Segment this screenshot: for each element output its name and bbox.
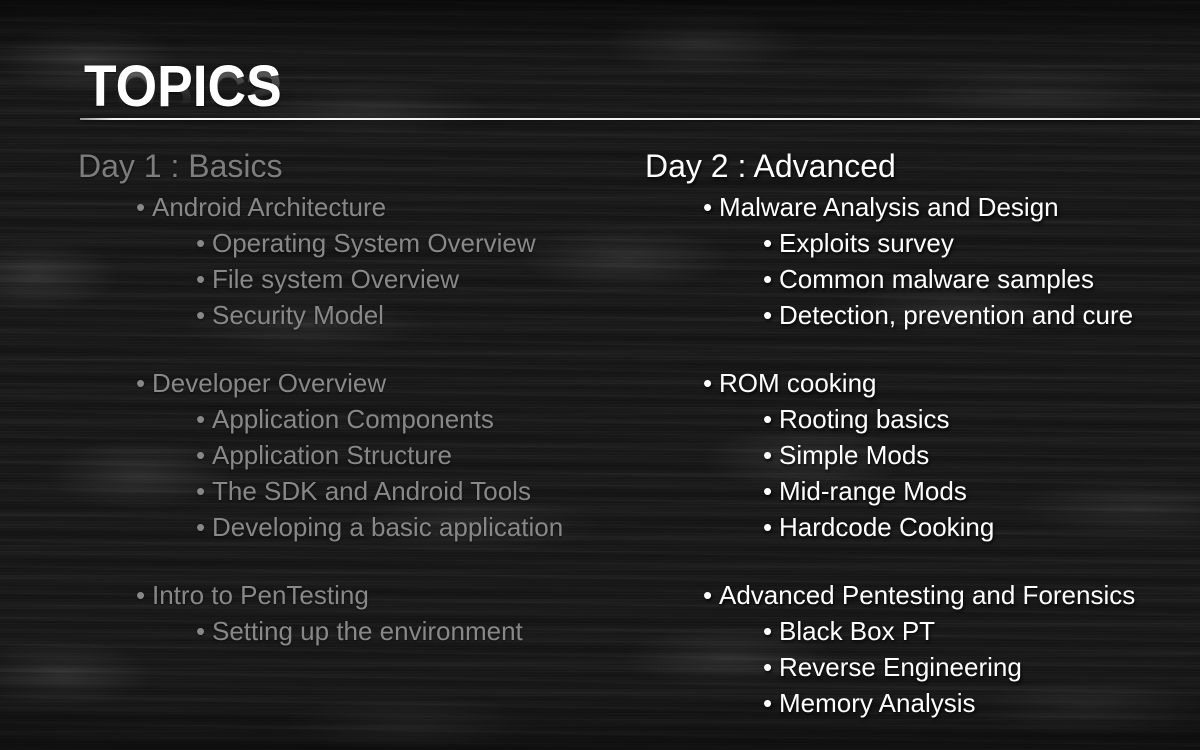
topic-list-item-label: Operating System Overview (212, 225, 536, 261)
bullet-dot-icon: • (136, 577, 152, 613)
bullet-dot-icon: • (763, 297, 779, 333)
topic-list-item: •Exploits survey (645, 225, 1200, 261)
topic-list-item-label: Advanced Pentesting and Forensics (719, 577, 1135, 613)
group-spacer (645, 333, 1200, 365)
topic-list-item: •Android Architecture (78, 189, 638, 225)
bullet-dot-icon: • (763, 261, 779, 297)
topic-list-item-label: Reverse Engineering (779, 649, 1022, 685)
topic-list-item: •Developing a basic application (78, 509, 638, 545)
bullet-dot-icon: • (196, 401, 212, 437)
bullet-dot-icon: • (196, 297, 212, 333)
bullet-dot-icon: • (703, 365, 719, 401)
topic-list-item: •Mid-range Mods (645, 473, 1200, 509)
topic-list-item-label: File system Overview (212, 261, 459, 297)
column-day-2-groups: •Malware Analysis and Design•Exploits su… (645, 189, 1200, 721)
topic-list-item: •Intro to PenTesting (78, 577, 638, 613)
bullet-dot-icon: • (763, 685, 779, 721)
topic-list-item-label: Developer Overview (152, 365, 386, 401)
topic-list-item: •Reverse Engineering (645, 649, 1200, 685)
bullet-dot-icon: • (196, 509, 212, 545)
topic-list-item: •Security Model (78, 297, 638, 333)
column-day-1: Day 1 : Basics •Android Architecture•Ope… (78, 146, 638, 649)
topic-list-item-label: ROM cooking (719, 365, 877, 401)
bullet-dot-icon: • (763, 649, 779, 685)
topic-group: •Developer Overview•Application Componen… (78, 365, 638, 545)
topic-list-item-label: Developing a basic application (212, 509, 563, 545)
title-divider-rule (80, 118, 1200, 120)
slide-content: TOPICS TOPICS Day 1 : Basics •Android Ar… (0, 0, 1200, 750)
group-spacer (78, 333, 638, 365)
topic-list-item-label: Hardcode Cooking (779, 509, 994, 545)
bullet-dot-icon: • (763, 473, 779, 509)
bullet-dot-icon: • (703, 189, 719, 225)
bullet-dot-icon: • (196, 613, 212, 649)
group-spacer (78, 545, 638, 577)
topic-group: •ROM cooking•Rooting basics•Simple Mods•… (645, 365, 1200, 545)
topic-list-item: •Rooting basics (645, 401, 1200, 437)
bullet-dot-icon: • (136, 189, 152, 225)
topic-list-item: •Memory Analysis (645, 685, 1200, 721)
bullet-dot-icon: • (763, 613, 779, 649)
topic-list-item-label: Detection, prevention and cure (779, 297, 1133, 333)
topic-list-item-label: Mid-range Mods (779, 473, 967, 509)
topic-group: •Android Architecture•Operating System O… (78, 189, 638, 333)
topic-list-item: •The SDK and Android Tools (78, 473, 638, 509)
topic-group: •Malware Analysis and Design•Exploits su… (645, 189, 1200, 333)
topic-list-item-label: Black Box PT (779, 613, 935, 649)
bullet-dot-icon: • (196, 437, 212, 473)
topic-list-item: •Setting up the environment (78, 613, 638, 649)
topic-list-item: •Application Components (78, 401, 638, 437)
topic-list-item-label: Application Components (212, 401, 494, 437)
topic-list-item: •Simple Mods (645, 437, 1200, 473)
bullet-dot-icon: • (703, 577, 719, 613)
bullet-dot-icon: • (196, 225, 212, 261)
topic-list-item: •Hardcode Cooking (645, 509, 1200, 545)
topic-list-item-label: Application Structure (212, 437, 452, 473)
topic-list-item-label: Rooting basics (779, 401, 950, 437)
topic-list-item-label: Memory Analysis (779, 685, 976, 721)
topic-list-item: •Black Box PT (645, 613, 1200, 649)
topic-list-item: •ROM cooking (645, 365, 1200, 401)
topic-list-item-label: Common malware samples (779, 261, 1094, 297)
topic-list-item-label: Simple Mods (779, 437, 929, 473)
topic-list-item-label: Security Model (212, 297, 384, 333)
topic-list-item: •Application Structure (78, 437, 638, 473)
topic-group: •Advanced Pentesting and Forensics•Black… (645, 577, 1200, 721)
topic-list-item: •Common malware samples (645, 261, 1200, 297)
topic-list-item-label: The SDK and Android Tools (212, 473, 531, 509)
slide-title-reflection: TOPICS (84, 61, 1059, 119)
topic-list-item: •File system Overview (78, 261, 638, 297)
topic-list-item-label: Intro to PenTesting (152, 577, 369, 613)
bullet-dot-icon: • (136, 365, 152, 401)
bullet-dot-icon: • (763, 225, 779, 261)
bullet-dot-icon: • (763, 437, 779, 473)
column-day-2: Day 2 : Advanced •Malware Analysis and D… (645, 146, 1200, 721)
bullet-dot-icon: • (763, 509, 779, 545)
group-spacer (645, 545, 1200, 577)
presentation-slide: TOPICS TOPICS Day 1 : Basics •Android Ar… (0, 0, 1200, 750)
column-heading-day-1: Day 1 : Basics (78, 146, 638, 186)
topic-list-item: •Detection, prevention and cure (645, 297, 1200, 333)
topic-list-item: •Advanced Pentesting and Forensics (645, 577, 1200, 613)
bullet-dot-icon: • (196, 261, 212, 297)
column-heading-day-2: Day 2 : Advanced (645, 146, 1200, 186)
topic-list-item: •Operating System Overview (78, 225, 638, 261)
column-day-1-groups: •Android Architecture•Operating System O… (78, 189, 638, 649)
bullet-dot-icon: • (763, 401, 779, 437)
topic-list-item-label: Android Architecture (152, 189, 386, 225)
topic-list-item: •Developer Overview (78, 365, 638, 401)
topic-list-item-label: Malware Analysis and Design (719, 189, 1059, 225)
bullet-dot-icon: • (196, 473, 212, 509)
topic-group: •Intro to PenTesting•Setting up the envi… (78, 577, 638, 649)
topic-list-item: •Malware Analysis and Design (645, 189, 1200, 225)
topic-list-item-label: Setting up the environment (212, 613, 523, 649)
topic-list-item-label: Exploits survey (779, 225, 954, 261)
